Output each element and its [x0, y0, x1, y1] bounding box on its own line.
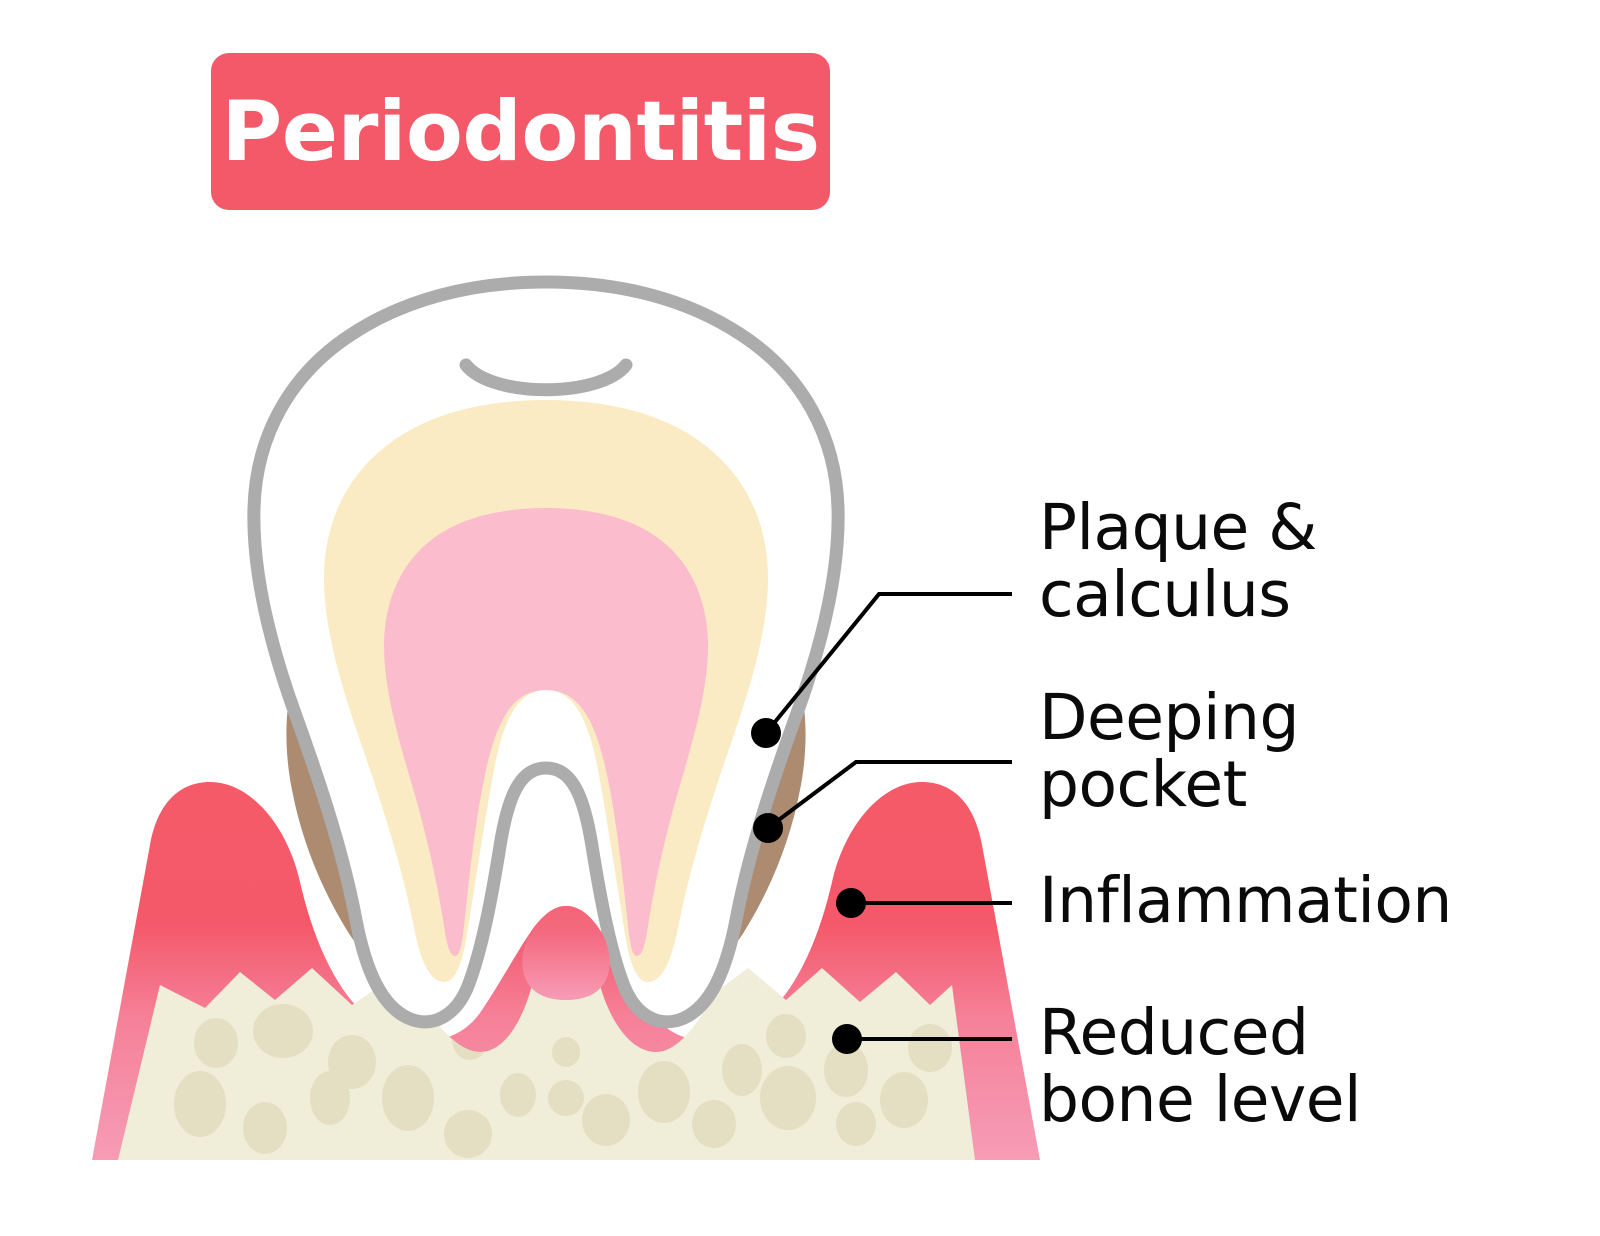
tooth-group — [254, 282, 838, 1022]
title-banner: Periodontitis — [211, 53, 830, 210]
illustration-canvas: Periodontitis Plaque & calculus Deeping … — [0, 0, 1600, 1236]
dot-plaque — [751, 718, 781, 748]
page-title: Periodontitis — [221, 90, 819, 173]
dot-inflammation — [836, 888, 866, 918]
callout-label-inflammation: Inflammation — [1039, 868, 1452, 935]
callout-label-plaque-calculus: Plaque & calculus — [1039, 495, 1317, 629]
dot-bone — [832, 1024, 862, 1054]
callout-label-reduced-bone-level: Reduced bone level — [1039, 1000, 1361, 1134]
callout-label-deeping-pocket: Deeping pocket — [1039, 685, 1299, 819]
dot-pocket — [753, 813, 783, 843]
